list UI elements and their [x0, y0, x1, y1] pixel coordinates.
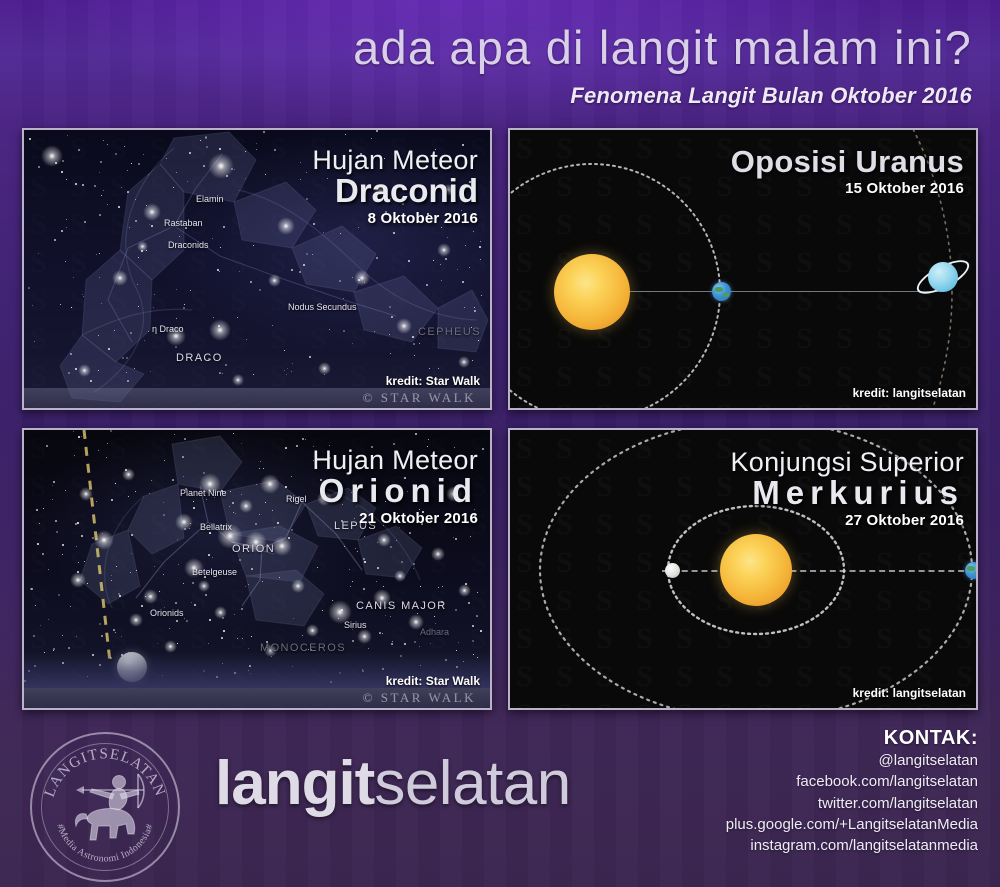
- star: [345, 134, 346, 135]
- kontak-instagram[interactable]: instagram.com/langitselatanmedia: [726, 835, 978, 856]
- star: [66, 219, 67, 220]
- star: [442, 586, 443, 587]
- star: [127, 191, 129, 193]
- star: [48, 619, 49, 620]
- star: [245, 586, 246, 587]
- star: [99, 277, 100, 278]
- star: [291, 529, 293, 531]
- star: [183, 583, 184, 584]
- bright-star: [79, 487, 93, 501]
- wordmark-light: selatan: [374, 749, 570, 818]
- star: [144, 340, 145, 341]
- star: [413, 563, 415, 565]
- star: [358, 227, 359, 228]
- bright-star: [94, 530, 114, 550]
- star: [303, 264, 305, 266]
- star: [344, 546, 345, 547]
- bright-star: [41, 145, 63, 167]
- star: [31, 588, 33, 590]
- bright-star: [112, 270, 128, 286]
- sky-label: CANIS MAJOR: [356, 600, 447, 612]
- star: [480, 630, 482, 632]
- sky-label: Orionids: [150, 608, 184, 618]
- star: [163, 574, 164, 575]
- star: [474, 307, 475, 308]
- star: [221, 637, 223, 639]
- star: [175, 602, 177, 604]
- star: [250, 281, 252, 283]
- star: [184, 304, 185, 305]
- bright-star: [129, 613, 143, 627]
- panel-credit-uranus: kredit: langitselatan: [853, 386, 966, 400]
- star: [46, 445, 48, 447]
- star: [279, 577, 280, 578]
- star: [415, 433, 417, 435]
- star: [376, 257, 378, 259]
- star: [396, 540, 397, 541]
- bright-star: [78, 364, 91, 377]
- star: [376, 130, 378, 132]
- star: [433, 260, 434, 261]
- star: [339, 280, 341, 282]
- star: [81, 436, 82, 437]
- kontak-title: KONTAK:: [726, 727, 978, 750]
- bright-star: [198, 580, 210, 592]
- star: [251, 636, 252, 637]
- star: [391, 643, 393, 645]
- star: [255, 523, 257, 525]
- star: [115, 483, 116, 484]
- star: [148, 331, 149, 332]
- starwalk-watermark-text: © STAR WALK: [363, 390, 476, 406]
- star: [149, 224, 150, 225]
- star: [241, 494, 242, 495]
- star: [468, 602, 470, 604]
- star: [191, 602, 192, 603]
- star: [237, 317, 238, 318]
- star: [182, 456, 184, 458]
- star: [56, 531, 58, 533]
- star: [457, 269, 458, 270]
- star: [103, 140, 104, 141]
- star: [414, 355, 415, 356]
- star: [340, 233, 341, 234]
- star: [110, 430, 112, 432]
- star: [99, 214, 101, 216]
- starwalk-watermark-bar: © STAR WALK: [24, 388, 490, 408]
- star: [332, 600, 333, 601]
- star: [136, 570, 137, 571]
- star: [234, 614, 235, 615]
- star: [349, 569, 350, 570]
- kontak-facebook[interactable]: facebook.com/langitselatan: [726, 771, 978, 792]
- star: [186, 620, 188, 622]
- star: [259, 289, 261, 291]
- star: [464, 307, 465, 308]
- starwalk-watermark-bar: © STAR WALK: [24, 688, 490, 708]
- star: [220, 247, 221, 248]
- star: [222, 373, 223, 374]
- kontak-block: KONTAK: @langitselatan facebook.com/lang…: [726, 727, 978, 856]
- star: [127, 170, 128, 171]
- star: [205, 137, 207, 139]
- star: [99, 172, 100, 173]
- star: [177, 539, 178, 540]
- star: [212, 238, 213, 239]
- star: [150, 371, 151, 372]
- sky-label: η Draco: [152, 324, 184, 334]
- star: [42, 553, 44, 555]
- panel-credit-draconid: kredit: Star Walk: [386, 374, 480, 388]
- star: [390, 616, 391, 617]
- star: [479, 246, 481, 248]
- star: [299, 271, 301, 273]
- star: [34, 341, 35, 342]
- star: [223, 226, 225, 228]
- bright-star: [437, 243, 451, 257]
- star: [62, 544, 64, 546]
- star: [190, 290, 191, 291]
- star: [426, 284, 428, 286]
- bright-star: [268, 274, 281, 287]
- star: [60, 304, 61, 305]
- star: [175, 346, 177, 348]
- star: [413, 568, 414, 569]
- star: [71, 307, 72, 308]
- wordmark-bold: langit: [215, 749, 374, 818]
- star: [232, 502, 234, 504]
- star: [37, 543, 39, 545]
- star: [40, 625, 41, 626]
- star: [53, 648, 55, 650]
- star: [184, 438, 186, 440]
- star: [28, 287, 30, 289]
- star: [245, 151, 246, 152]
- star: [159, 591, 160, 592]
- star: [70, 353, 72, 355]
- bright-star: [143, 203, 161, 221]
- star: [473, 231, 474, 232]
- star: [434, 616, 435, 617]
- bright-star: [458, 356, 470, 368]
- star: [480, 241, 481, 242]
- star: [223, 630, 225, 632]
- star: [469, 267, 470, 268]
- star: [389, 306, 391, 308]
- sky-label: Nodus Secundus: [288, 302, 357, 312]
- star: [118, 206, 120, 208]
- star: [368, 648, 369, 649]
- conjunction-sight-line: [662, 570, 974, 572]
- star: [364, 561, 366, 563]
- bright-star: [208, 153, 234, 179]
- star: [391, 316, 393, 318]
- star: [265, 502, 266, 503]
- star: [96, 254, 97, 255]
- star: [98, 450, 99, 451]
- star: [285, 447, 287, 449]
- star: [116, 566, 117, 567]
- star: [68, 647, 70, 649]
- star: [108, 348, 110, 350]
- star: [472, 625, 474, 627]
- sky-label: ORION: [232, 543, 275, 555]
- star: [82, 184, 84, 186]
- bright-star: [277, 217, 295, 235]
- star: [272, 325, 273, 326]
- star: [455, 609, 457, 611]
- panel-merkurius[interactable]: SSSSSSSSSSSSSSSSSSSSSSSSSSSSSSSSSSSSSSSS…: [508, 428, 978, 710]
- bright-star: [175, 513, 193, 531]
- panel-title-orionid: Hujan Meteor Orionid 21 Oktober 2016: [312, 446, 478, 527]
- star: [291, 371, 292, 372]
- star: [53, 650, 54, 651]
- star: [135, 491, 136, 492]
- bright-star: [394, 570, 406, 582]
- star: [390, 353, 391, 354]
- bright-star: [232, 374, 244, 386]
- star: [183, 307, 185, 309]
- panel-title-draconid: Hujan Meteor Draconid 8 Oktober 2016: [312, 146, 478, 227]
- star: [90, 380, 92, 382]
- star: [184, 618, 185, 619]
- star: [474, 310, 476, 312]
- star: [149, 493, 150, 494]
- sun-body: [554, 254, 630, 330]
- star: [323, 232, 324, 233]
- star: [82, 294, 83, 295]
- star: [312, 254, 313, 255]
- star: [134, 368, 135, 369]
- star: [115, 632, 116, 633]
- star: [192, 582, 194, 584]
- star: [284, 350, 285, 351]
- star: [248, 584, 249, 585]
- panel-uranus[interactable]: SSSSSSSSSSSSSSSSSSSSSSSSSSSSSSSSSSSSSSSS…: [508, 128, 978, 410]
- star: [84, 561, 85, 562]
- bright-star: [214, 606, 227, 619]
- star: [445, 258, 447, 260]
- star: [126, 372, 127, 373]
- star: [33, 635, 35, 637]
- star: [176, 620, 178, 622]
- star: [99, 253, 100, 254]
- star: [352, 581, 353, 582]
- star: [193, 507, 195, 509]
- star: [76, 636, 77, 637]
- star: [352, 343, 353, 344]
- star: [277, 522, 279, 524]
- star: [119, 595, 121, 597]
- sky-label: DRACO: [176, 352, 223, 364]
- mercury-body: [665, 563, 680, 578]
- star: [193, 501, 194, 502]
- sky-label: Adhara: [420, 627, 449, 637]
- star: [151, 225, 153, 227]
- star: [38, 166, 40, 168]
- star: [61, 171, 63, 173]
- poster-footer: LANGITSELATAN #Media Astronomi Indonesia…: [0, 712, 1000, 887]
- star: [124, 146, 125, 147]
- star: [256, 484, 257, 485]
- star: [343, 330, 345, 332]
- star: [77, 522, 79, 524]
- bright-star: [143, 589, 158, 604]
- bright-star: [357, 629, 372, 644]
- langitselatan-wordmark: langitselatan: [215, 748, 571, 819]
- star: [253, 374, 254, 375]
- star: [35, 605, 36, 606]
- star: [322, 610, 323, 611]
- star: [300, 179, 301, 180]
- star: [217, 269, 219, 271]
- star: [135, 220, 137, 222]
- star: [414, 641, 416, 643]
- kontak-googleplus[interactable]: plus.google.com/+LangitselatanMedia: [726, 814, 978, 835]
- bright-star: [458, 584, 471, 597]
- star: [413, 343, 415, 345]
- star: [131, 163, 132, 164]
- star: [131, 534, 133, 536]
- sky-label: Planet Nine: [180, 488, 227, 498]
- bright-star: [137, 241, 148, 252]
- star: [420, 586, 421, 587]
- star: [29, 138, 31, 140]
- bright-star: [260, 474, 280, 494]
- star: [392, 641, 393, 642]
- panel-title-uranus: Oposisi Uranus 15 Oktober 2016: [731, 146, 964, 197]
- star: [291, 269, 293, 271]
- star: [329, 329, 330, 330]
- star: [262, 581, 263, 582]
- poster-subtitle: Fenomena Langit Bulan Oktober 2016: [570, 83, 972, 109]
- star: [363, 558, 365, 560]
- star: [67, 135, 68, 136]
- sun-body: [720, 534, 792, 606]
- opposition-sight-line: [592, 291, 944, 292]
- bright-star: [164, 640, 177, 653]
- star: [68, 372, 70, 374]
- star: [472, 640, 474, 642]
- earth-body: [965, 562, 978, 579]
- star: [106, 457, 107, 458]
- star: [179, 236, 180, 237]
- star: [172, 479, 174, 481]
- star: [75, 183, 77, 185]
- star: [219, 372, 221, 374]
- star: [177, 643, 178, 644]
- star: [208, 554, 210, 556]
- panel-orionid[interactable]: SSSSSSSSSSSSSSSSSSSSSSSSSSSSSSSSSSSSSSSS…: [22, 428, 492, 710]
- star: [130, 332, 132, 334]
- earth-body: [712, 282, 731, 301]
- star: [38, 253, 39, 254]
- star: [476, 615, 478, 617]
- star: [43, 508, 44, 509]
- star: [153, 307, 154, 308]
- star: [219, 148, 221, 150]
- star: [114, 330, 115, 331]
- star: [176, 318, 177, 319]
- bright-star: [396, 318, 412, 334]
- star: [285, 486, 287, 488]
- panel-credit-orionid: kredit: Star Walk: [386, 674, 480, 688]
- star: [379, 632, 381, 634]
- star: [239, 559, 241, 561]
- star: [458, 642, 459, 643]
- star: [58, 594, 60, 596]
- poster-title: ada apa di langit malam ini?: [353, 20, 972, 75]
- star: [355, 548, 356, 549]
- star: [363, 588, 365, 590]
- star: [306, 198, 308, 200]
- star: [103, 190, 104, 191]
- bright-star: [354, 270, 370, 286]
- star: [78, 436, 80, 438]
- sky-label: MONOCEROS: [260, 642, 346, 654]
- kontak-handle[interactable]: @langitselatan: [726, 750, 978, 771]
- star: [81, 535, 83, 537]
- star: [209, 532, 211, 534]
- star: [263, 468, 264, 469]
- star: [84, 221, 86, 223]
- bright-star: [70, 572, 86, 588]
- star: [256, 143, 257, 144]
- bright-star: [306, 624, 319, 637]
- star: [78, 149, 80, 151]
- star: [163, 502, 164, 503]
- sky-label: Rigel: [286, 494, 307, 504]
- star: [135, 199, 136, 200]
- star: [404, 643, 406, 645]
- star: [212, 557, 213, 558]
- panel-credit-merkurius: kredit: langitselatan: [853, 686, 966, 700]
- star: [127, 380, 129, 382]
- star: [234, 169, 235, 170]
- star: [274, 527, 275, 528]
- panel-draconid[interactable]: SSSSSSSSSSSSSSSSSSSSSSSSSSSSSSSSSSSSSSSS…: [22, 128, 492, 410]
- star: [205, 594, 207, 596]
- star: [121, 636, 122, 637]
- star: [246, 339, 247, 340]
- panel-title-merkurius: Konjungsi Superior Merkurius 27 Oktober …: [730, 448, 964, 529]
- star: [101, 635, 103, 637]
- star: [206, 499, 207, 500]
- uranus-body: [928, 262, 958, 292]
- star: [239, 271, 240, 272]
- sky-label: Betelgeuse: [192, 567, 237, 577]
- star: [178, 564, 179, 565]
- sky-label: Sirius: [344, 620, 367, 630]
- star: [401, 561, 403, 563]
- star: [48, 569, 49, 570]
- star: [53, 481, 55, 483]
- star: [233, 512, 234, 513]
- star: [350, 586, 351, 587]
- star: [251, 568, 253, 570]
- star: [480, 259, 481, 260]
- star: [478, 340, 479, 341]
- bright-star: [377, 533, 391, 547]
- kontak-twitter[interactable]: twitter.com/langitselatan: [726, 793, 978, 814]
- starwalk-watermark-text: © STAR WALK: [363, 690, 476, 706]
- sky-label: Bellatrix: [200, 522, 232, 532]
- bright-star: [291, 579, 305, 593]
- star: [55, 520, 57, 522]
- star: [154, 294, 155, 295]
- star: [455, 538, 457, 540]
- star: [66, 227, 67, 228]
